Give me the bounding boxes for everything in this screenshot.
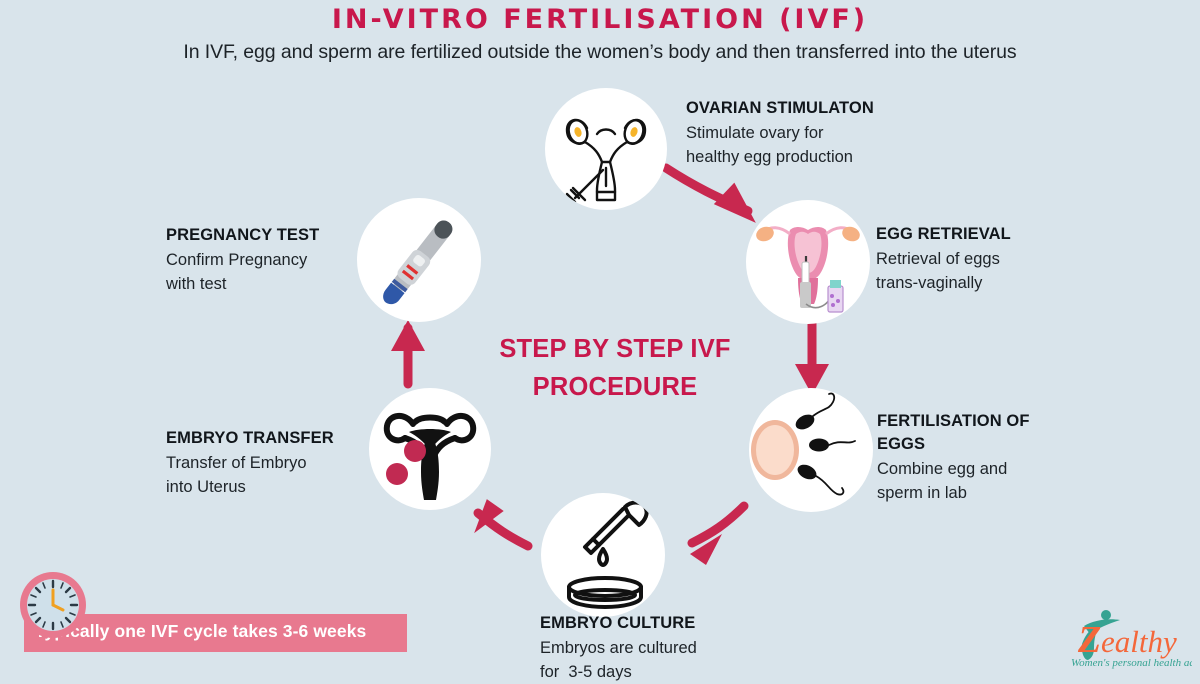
step-line1-egg-retrieval: Retrieval of eggs xyxy=(876,247,1116,271)
step-line1-embryo-transfer: Transfer of Embryo xyxy=(166,451,416,475)
uterus-with-syringe-icon xyxy=(545,88,667,210)
pipette-petri-dish-icon xyxy=(541,493,665,617)
step-line2-pregnancy-test: with test xyxy=(166,272,416,296)
step-line2-ovarian-stimulation: healthy egg production xyxy=(686,145,926,169)
step-text-embryo-transfer: EMBRYO TRANSFER Transfer of Embryo into … xyxy=(166,428,416,499)
logo-letter-z: Z xyxy=(1077,619,1101,661)
logo-tagline: Women's personal health advisor xyxy=(1071,657,1192,669)
step-heading-fertilisation: FERTILISATION OF xyxy=(877,411,1127,432)
step-text-pregnancy-test: PREGNANCY TEST Confirm Pregnancy with te… xyxy=(166,225,416,296)
step-text-ovarian-stimulation: OVARIAN STIMULATON Stimulate ovary for h… xyxy=(686,98,926,169)
step-heading-egg-retrieval: EGG RETRIEVAL xyxy=(876,224,1116,245)
step-circle-ovarian-stimulation[interactable] xyxy=(545,88,667,210)
clock-icon xyxy=(18,570,88,640)
infographic-canvas: IN-VITRO FERTILISATION (IVF) In IVF, egg… xyxy=(0,0,1200,675)
step-line2-egg-retrieval: trans-vaginally xyxy=(876,271,1116,295)
uterus-needle-vial-icon xyxy=(746,200,870,324)
step-line2-embryo-transfer: into Uterus xyxy=(166,475,416,499)
step-heading-embryo-transfer: EMBRYO TRANSFER xyxy=(166,428,416,449)
step-heading-ovarian-stimulation: OVARIAN STIMULATON xyxy=(686,98,926,119)
step-line2-embryo-culture: for 3-5 days xyxy=(540,660,790,684)
center-heading-line-1: STEP BY STEP IVF xyxy=(455,330,775,368)
step-text-fertilisation: FERTILISATION OF EGGS Combine egg and sp… xyxy=(877,411,1127,505)
center-heading-line-2: PROCEDURE xyxy=(455,368,775,406)
step-heading-embryo-culture: EMBRYO CULTURE xyxy=(540,613,790,634)
step-circle-embryo-culture[interactable] xyxy=(541,493,665,617)
step-text-embryo-culture: EMBRYO CULTURE Embryos are cultured for … xyxy=(540,613,790,684)
egg-and-sperm-icon xyxy=(749,388,873,512)
step-circle-fertilisation[interactable] xyxy=(749,388,873,512)
step-line1-embryo-culture: Embryos are cultured xyxy=(540,636,790,660)
step-line1-ovarian-stimulation: Stimulate ovary for xyxy=(686,121,926,145)
footnote-text: Typically one IVF cycle takes 3-6 weeks xyxy=(35,621,405,642)
step-line1-fertilisation: Combine egg and xyxy=(877,457,1127,481)
center-heading: STEP BY STEP IVF PROCEDURE xyxy=(455,330,775,406)
brand-logo[interactable]: Z ealthy Women's personal health advisor xyxy=(1068,608,1192,670)
step-heading-pregnancy-test: PREGNANCY TEST xyxy=(166,225,416,246)
step-heading2-fertilisation: EGGS xyxy=(877,434,1127,455)
step-line2-fertilisation: sperm in lab xyxy=(877,481,1127,505)
arrowhead-1 xyxy=(714,179,767,223)
arrowhead-5 xyxy=(391,320,425,351)
step-text-egg-retrieval: EGG RETRIEVAL Retrieval of eggs trans-va… xyxy=(876,224,1116,295)
step-circle-egg-retrieval[interactable] xyxy=(746,200,870,324)
logo-wordmark-rest: ealthy xyxy=(1101,624,1177,659)
step-line1-pregnancy-test: Confirm Pregnancy xyxy=(166,248,416,272)
